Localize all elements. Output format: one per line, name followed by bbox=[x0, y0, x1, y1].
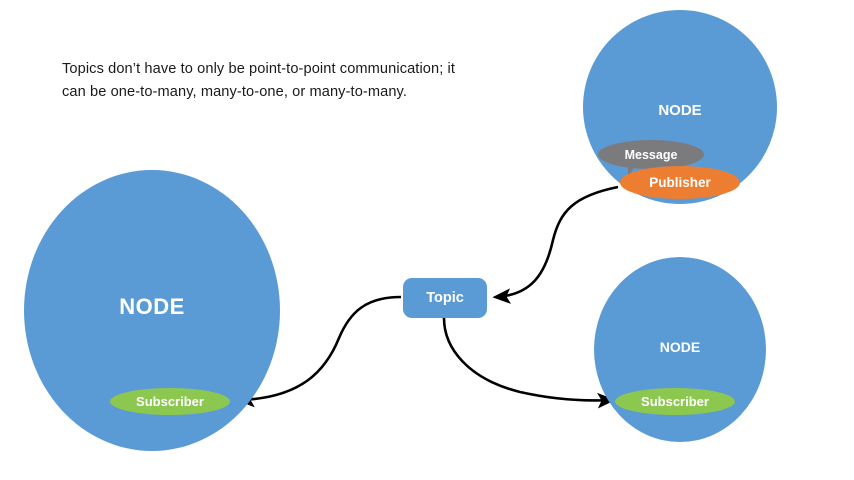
message-ellipse[interactable]: Message bbox=[598, 140, 704, 169]
arrow-publisher-to-topic bbox=[496, 187, 618, 297]
slide-canvas: Topics don’t have to only be point-to-po… bbox=[0, 0, 854, 480]
right-subscriber-ellipse[interactable]: Subscriber bbox=[615, 388, 735, 415]
publisher-node-label: NODE bbox=[583, 102, 777, 119]
topic-box[interactable]: Topic bbox=[403, 278, 487, 318]
caption-text: Topics don’t have to only be point-to-po… bbox=[62, 58, 482, 103]
publisher-ellipse[interactable]: Publisher bbox=[620, 166, 740, 199]
right-subscriber-node-label: NODE bbox=[594, 339, 766, 355]
arrow-topic-to-right-subscriber bbox=[444, 318, 612, 400]
left-subscriber-ellipse[interactable]: Subscriber bbox=[110, 388, 230, 415]
left-subscriber-node-label: NODE bbox=[24, 294, 280, 320]
